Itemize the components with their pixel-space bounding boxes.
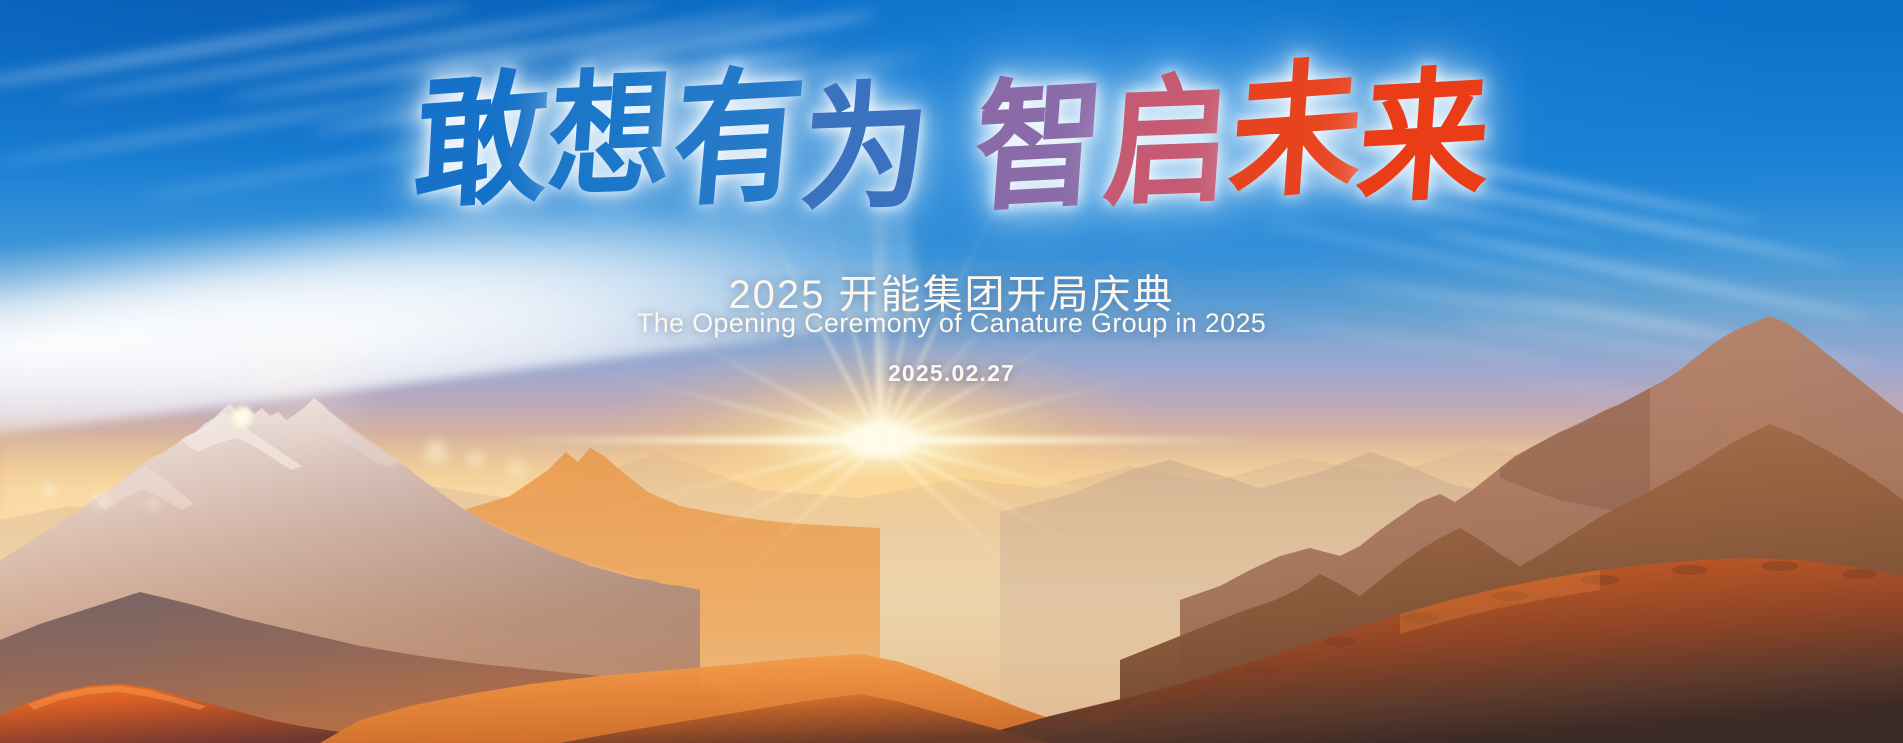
title-char-4: 为 [797, 76, 935, 220]
title-char-2: 想 [544, 64, 678, 205]
event-banner: 敢想有为智启未来 2025 开能集团开局庆典 The Opening Cerem… [0, 0, 1903, 743]
banner-title: 敢想有为智启未来 [0, 78, 1903, 207]
title-char-6: 启 [1100, 69, 1236, 214]
calligraphy-title: 敢想有为智启未来 [417, 78, 1487, 207]
title-char-3: 有 [667, 61, 810, 215]
title-char-1: 敢 [411, 64, 553, 218]
title-char-8: 来 [1354, 62, 1496, 212]
title-char-7: 未 [1226, 53, 1369, 209]
event-date: 2025.02.27 [0, 360, 1903, 387]
subtitle-english: The Opening Ceremony of Canature Group i… [0, 308, 1903, 339]
title-char-5: 智 [971, 71, 1110, 220]
